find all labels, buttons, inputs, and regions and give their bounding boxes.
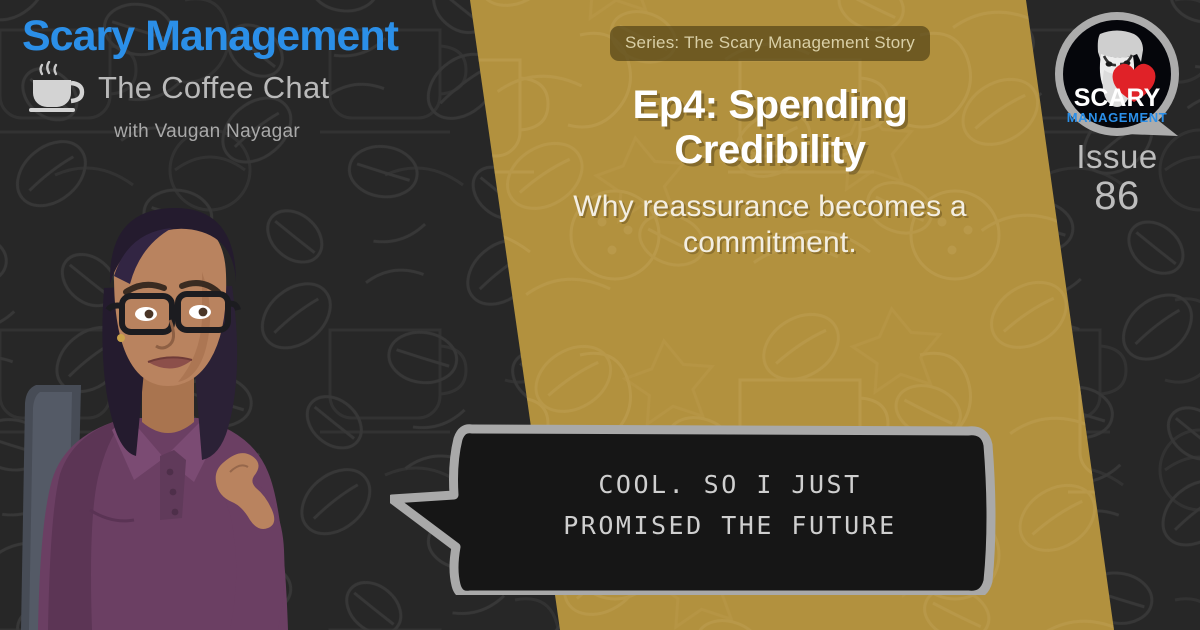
logo-word-top: SCARY xyxy=(1074,84,1161,112)
issue-indicator: Issue 86 xyxy=(1052,140,1182,217)
show-subtitle: The Coffee Chat xyxy=(98,72,329,103)
episode-title: Ep4: Spending Credibility xyxy=(560,83,980,173)
speech-line-2: PROMISED THE FUTURE xyxy=(563,513,896,538)
subtitle-row: The Coffee Chat xyxy=(26,61,480,113)
speech-bubble-text: COOL. SO I JUST PROMISED THE FUTURE xyxy=(470,445,990,565)
show-branding-header: Scary Management The Coffee Chat with Va… xyxy=(0,0,480,143)
host-character-illustration xyxy=(18,180,348,630)
logo-word-bottom: MANAGEMENT xyxy=(1067,110,1168,125)
series-badge: Series: The Scary Management Story xyxy=(610,26,930,61)
show-title: Scary Management xyxy=(22,14,480,59)
host-credit: with Vaugan Nayagar xyxy=(114,121,480,143)
speech-line-1: COOL. SO I JUST xyxy=(598,472,861,497)
scary-management-logo: SCARY MANAGEMENT xyxy=(1052,10,1182,140)
coffee-cup-icon xyxy=(26,61,88,113)
issue-number: 86 xyxy=(1052,175,1182,217)
episode-subtitle: Why reassurance becomes a commitment. xyxy=(570,189,970,262)
issue-label: Issue xyxy=(1052,140,1182,175)
podcast-cover-canvas: Scary Management The Coffee Chat with Va… xyxy=(0,0,1200,630)
speech-bubble: COOL. SO I JUST PROMISED THE FUTURE xyxy=(390,415,1015,595)
